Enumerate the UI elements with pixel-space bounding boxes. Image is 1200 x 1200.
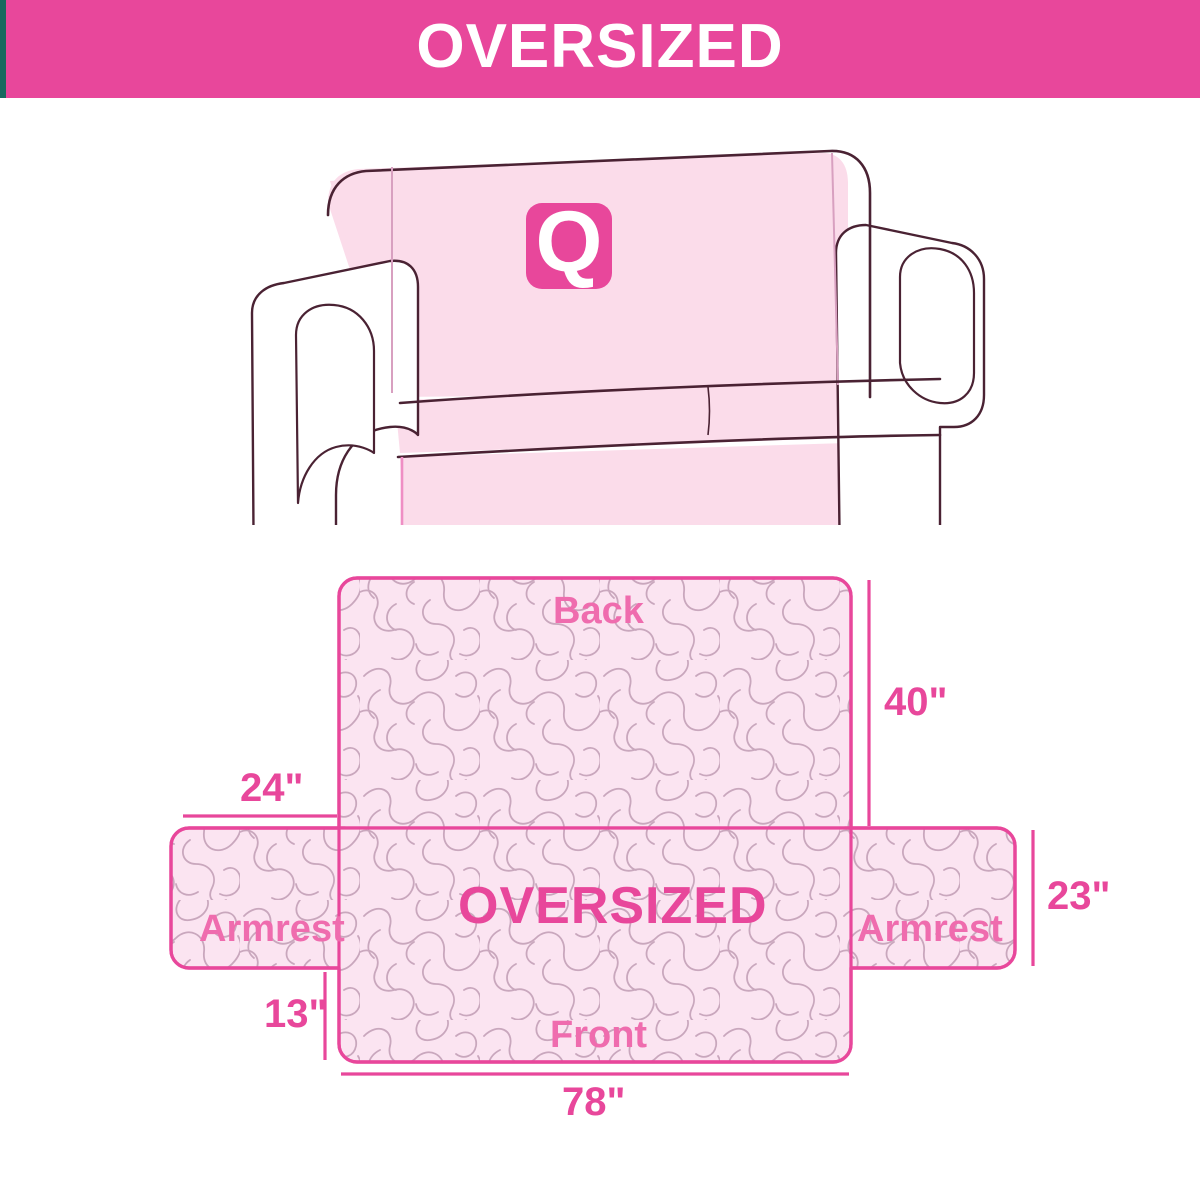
dimension-label-40: 40" <box>884 682 947 722</box>
slipcover-diagram: Back Front Armrest Armrest OVERSIZED 40"… <box>0 540 1200 1140</box>
panel-label-armrest-right: Armrest <box>857 910 1003 948</box>
panel-label-armrest-left: Armrest <box>199 910 345 948</box>
dimension-label-78: 78" <box>562 1082 625 1122</box>
panel-label-back: Back <box>553 592 644 630</box>
dimension-label-13: 13" <box>264 994 327 1034</box>
dimension-label-23: 23" <box>1047 876 1110 916</box>
panel-label-front: Front <box>550 1016 647 1054</box>
sofa-illustration: Q <box>240 135 1000 525</box>
page-title: OVERSIZED <box>416 16 783 78</box>
q-logo-badge: Q <box>526 194 612 290</box>
header-banner: OVERSIZED <box>0 0 1200 98</box>
header-edge-stripe <box>0 0 6 98</box>
svg-text:Q: Q <box>536 194 603 290</box>
dimension-label-24: 24" <box>240 768 303 808</box>
diagram-center-label: OVERSIZED <box>458 880 768 932</box>
